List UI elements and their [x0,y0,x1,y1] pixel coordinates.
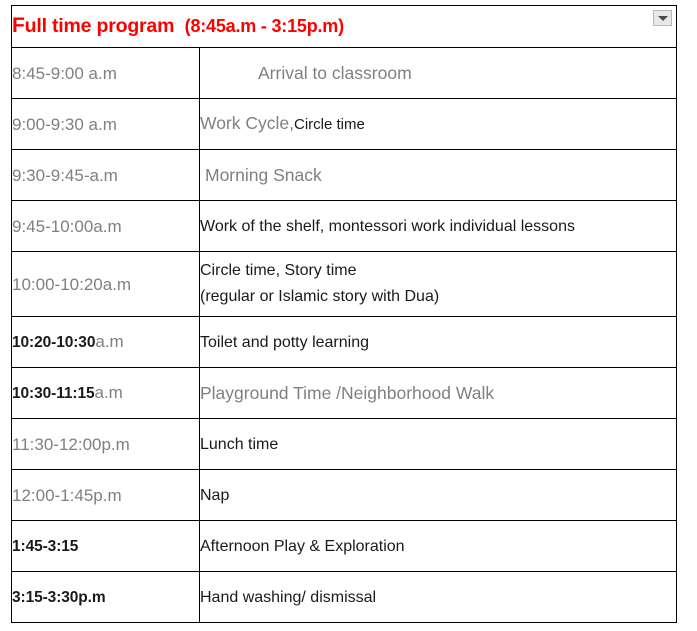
activity-label-line1: Circle time, Story time [200,258,676,284]
time-cell: 10:30-11:15a.m [12,368,200,419]
time-label: 12:00-1:45p.m [12,486,122,505]
time-label: 10:00-10:20a.m [12,275,131,294]
table-row: 8:45-9:00 a.m Arrival to classroom [12,48,677,99]
activity-cell: Morning Snack [200,150,677,201]
activity-label: Work of the shelf, montessori work indiv… [200,218,575,235]
time-label-main: 10:30-11:15 [12,385,95,402]
time-label-main: 10:20-10:30 [12,334,95,351]
table-row: 11:30-12:00p.m Lunch time [12,419,677,470]
program-title-cell: Full time program (8:45a.m - 3:15p.m) [12,6,677,48]
time-label-suffix: a.m [95,332,123,351]
page-title-lead: F [12,14,25,37]
time-cell: 9:45-10:00a.m [12,201,200,252]
activity-cell: Lunch time [200,419,677,470]
activity-label-line2: (regular or Islamic story with Dua) [200,284,676,310]
caret-shape [658,16,668,21]
activity-cell: Afternoon Play & Exploration [200,521,677,572]
table-row: 9:45-10:00a.m Work of the shelf, montess… [12,201,677,252]
activity-cell: Nap [200,470,677,521]
table-row: 9:30-9:45-a.m Morning Snack [12,150,677,201]
table-row: 1:45-3:15 Afternoon Play & Exploration [12,521,677,572]
time-cell: 3:15-3:30p.m [12,572,200,623]
activity-label: Arrival to classroom [200,62,412,85]
activity-label: Toilet and potty learning [200,334,369,351]
activity-label: Morning Snack [200,164,322,187]
activity-label: Afternoon Play & Exploration [200,538,405,555]
table-header-row: Full time program (8:45a.m - 3:15p.m) [12,6,677,48]
time-cell: 10:20-10:30a.m [12,317,200,368]
activity-cell: Playground Time /Neighborhood Walk [200,368,677,419]
activity-cell: Hand washing/ dismissal [200,572,677,623]
time-cell: 12:00-1:45p.m [12,470,200,521]
table-row: 9:00-9:30 a.m Work Cycle,Circle time [12,99,677,150]
activity-label-primary: Work Cycle, [200,113,294,133]
activity-label-secondary: Circle time [294,116,365,133]
page-title: Full time program (8:45a.m - 3:15p.m) [12,15,344,37]
time-label: 9:30-9:45-a.m [12,166,118,185]
table-row: 10:20-10:30a.m Toilet and potty learning [12,317,677,368]
time-cell: 9:30-9:45-a.m [12,150,200,201]
page-title-rest: ull time program [25,15,175,37]
time-cell: 8:45-9:00 a.m [12,48,200,99]
activity-label: Playground Time /Neighborhood Walk [200,383,494,403]
activity-cell: Toilet and potty learning [200,317,677,368]
time-cell: 11:30-12:00p.m [12,419,200,470]
table-row: 3:15-3:30p.m Hand washing/ dismissal [12,572,677,623]
activity-label: Nap [200,487,229,504]
time-label: 9:45-10:00a.m [12,217,122,236]
time-label: 11:30-12:00p.m [12,435,130,454]
time-label: 3:15-3:30p.m [12,589,106,606]
activity-label: Hand washing/ dismissal [200,589,376,606]
activity-cell: Work of the shelf, montessori work indiv… [200,201,677,252]
daily-schedule-table: Full time program (8:45a.m - 3:15p.m) 8:… [11,5,677,623]
activity-label: Lunch time [200,436,278,453]
activity-cell: Arrival to classroom [200,48,677,99]
activity-cell: Circle time, Story time (regular or Isla… [200,252,677,317]
table-row: 12:00-1:45p.m Nap [12,470,677,521]
table-row: 10:00-10:20a.m Circle time, Story time (… [12,252,677,317]
time-cell: 1:45-3:15 [12,521,200,572]
time-label: 9:00-9:30 a.m [12,115,117,134]
activity-cell: Work Cycle,Circle time [200,99,677,150]
time-label: 1:45-3:15 [12,538,78,555]
time-cell: 9:00-9:30 a.m [12,99,200,150]
chevron-down-icon[interactable] [653,10,672,26]
page-title-hours: (8:45a.m - 3:15p.m) [185,16,344,36]
document-page: Full time program (8:45a.m - 3:15p.m) 8:… [0,0,697,631]
page-title-space [174,15,184,37]
time-label-suffix: a.m [95,383,123,402]
time-cell: 10:00-10:20a.m [12,252,200,317]
time-label: 8:45-9:00 a.m [12,64,117,83]
table-row: 10:30-11:15a.m Playground Time /Neighbor… [12,368,677,419]
